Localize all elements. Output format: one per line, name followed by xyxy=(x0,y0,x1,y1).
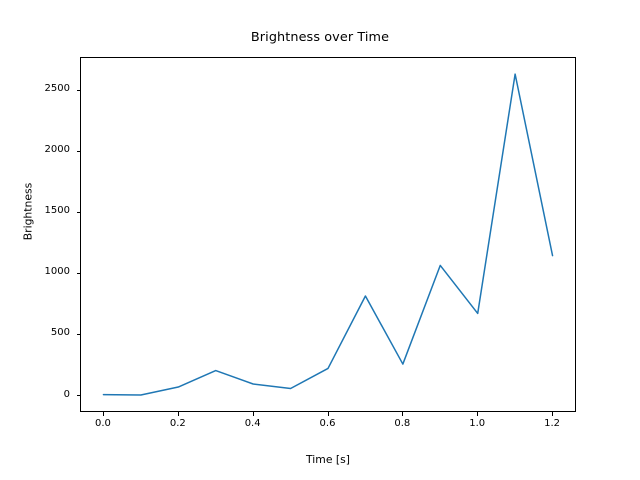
x-tick-mark xyxy=(552,412,553,416)
x-tick-label: 0.0 xyxy=(73,418,133,429)
page-title: Brightness over Time xyxy=(0,30,640,45)
x-axis-label: Time [s] xyxy=(80,453,576,466)
y-tick-mark xyxy=(77,273,81,274)
x-tick-mark xyxy=(402,412,403,416)
plot-area xyxy=(80,57,576,412)
x-tick-mark xyxy=(178,412,179,416)
x-tick-mark xyxy=(328,412,329,416)
x-tick-mark xyxy=(477,412,478,416)
matplotlib-figure: Brightness over Time 0.00.20.40.60.81.01… xyxy=(0,0,640,480)
x-tick-label: 0.2 xyxy=(148,418,208,429)
y-tick-label: 2000 xyxy=(0,144,70,155)
x-tick-label: 1.0 xyxy=(447,418,507,429)
y-tick-label: 1500 xyxy=(0,205,70,216)
y-tick-mark xyxy=(77,90,81,91)
y-tick-mark xyxy=(77,212,81,213)
brightness-line xyxy=(103,74,552,395)
x-tick-label: 0.6 xyxy=(298,418,358,429)
y-tick-label: 2500 xyxy=(0,83,70,94)
x-tick-label: 0.4 xyxy=(223,418,283,429)
y-tick-mark xyxy=(77,334,81,335)
line-series-svg xyxy=(81,58,575,411)
y-tick-mark xyxy=(77,395,81,396)
y-tick-mark xyxy=(77,151,81,152)
y-tick-label: 0 xyxy=(0,389,70,400)
y-axis-label: Brightness xyxy=(22,112,35,312)
x-tick-mark xyxy=(103,412,104,416)
y-tick-label: 1000 xyxy=(0,266,70,277)
x-tick-mark xyxy=(253,412,254,416)
x-tick-label: 1.2 xyxy=(522,418,582,429)
x-tick-label: 0.8 xyxy=(372,418,432,429)
y-tick-label: 500 xyxy=(0,327,70,338)
